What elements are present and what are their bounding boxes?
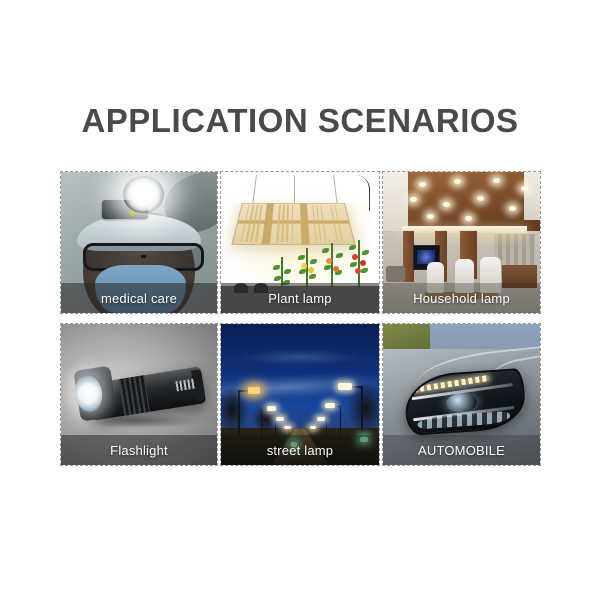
ceiling-cove-left <box>383 172 408 231</box>
downlight-icon <box>493 178 500 183</box>
scenario-row-2: Flashlight <box>60 323 541 466</box>
scenario-label-household-lamp: Household lamp <box>383 283 540 313</box>
plant-leaf <box>310 259 317 264</box>
street-lamp-light <box>325 403 334 408</box>
scenario-cell-plant-lamp[interactable]: Plant lamp <box>220 171 380 314</box>
street-lamp-light <box>310 426 316 429</box>
scenario-label-automobile: AUTOMOBILE <box>383 435 540 465</box>
scenario-label-flashlight: Flashlight <box>61 435 217 465</box>
street-lamp-light-amber <box>248 387 261 394</box>
application-scenarios-page: APPLICATION SCENARIOS medical care <box>0 0 600 600</box>
panel-bar-left <box>262 204 274 244</box>
scenario-label-street-lamp: street lamp <box>221 435 379 465</box>
street-pole <box>238 390 240 437</box>
panel-led-strip <box>286 205 289 242</box>
scenario-label-medical-care: medical care <box>61 283 217 313</box>
street-pole <box>361 386 363 437</box>
scenario-cell-medical-care[interactable]: medical care <box>60 171 218 314</box>
plant-leaf <box>349 245 356 250</box>
street-lamp-light <box>317 417 325 421</box>
plant-leaf <box>336 253 343 258</box>
downlight-icon <box>443 202 450 207</box>
tomato-fruit-yellow <box>308 267 314 273</box>
sofa-shape <box>386 266 405 282</box>
tomato-fruit-red <box>355 268 361 274</box>
flashlight-grip-rings <box>119 375 150 415</box>
scenario-cell-automobile[interactable]: AUTOMOBILE <box>382 323 541 466</box>
plant-leaf <box>361 268 368 273</box>
tomato-fruit-orange <box>326 258 332 264</box>
roadside-tree <box>347 383 379 434</box>
scenario-label-plant-lamp: Plant lamp <box>221 283 379 313</box>
street-lamp-light <box>338 383 352 390</box>
plant-leaf <box>350 262 357 267</box>
scenario-grid: medical care <box>60 171 541 466</box>
scenario-cell-flashlight[interactable]: Flashlight <box>60 323 218 466</box>
plant-leaf <box>298 255 305 260</box>
plant-leaf <box>324 265 331 270</box>
plant-leaf <box>309 274 316 279</box>
panel-led-strip <box>291 205 293 242</box>
panel-bar-right <box>299 204 309 244</box>
downlight-icon <box>454 179 461 184</box>
plant-leaf <box>362 250 369 255</box>
hanger-wire-right <box>333 175 338 206</box>
roadside-tree <box>221 386 249 434</box>
panel-led-strip <box>281 205 284 242</box>
scenario-cell-household-lamp[interactable]: Household lamp <box>382 171 541 314</box>
street-lamp-light <box>276 417 284 421</box>
plant-leaf <box>284 269 291 274</box>
scenario-row-1: medical care <box>60 171 541 314</box>
tomato-fruit-orange <box>333 266 339 272</box>
downlight-icon <box>509 206 516 211</box>
street-lamp-light <box>284 426 290 429</box>
scenario-cell-street-lamp[interactable]: street lamp <box>220 323 380 466</box>
downlight-icon <box>465 216 472 221</box>
hanger-wire-center <box>294 175 295 206</box>
night-cloud-upper <box>237 349 363 366</box>
headlight-lower-reflector <box>417 410 511 429</box>
street-lamp-light <box>267 406 276 411</box>
headlamp-light-icon <box>123 176 164 213</box>
plant-leaf <box>273 265 280 270</box>
page-title: APPLICATION SCENARIOS <box>0 101 600 141</box>
plant-leaf <box>322 248 329 253</box>
plant-leaf <box>299 269 306 274</box>
tomato-fruit-red <box>360 260 366 266</box>
downlight-icon <box>419 182 426 187</box>
hanger-wire-left <box>252 175 257 206</box>
led-grow-panel-icon <box>231 203 355 245</box>
ceiling-cove-right <box>524 172 540 220</box>
